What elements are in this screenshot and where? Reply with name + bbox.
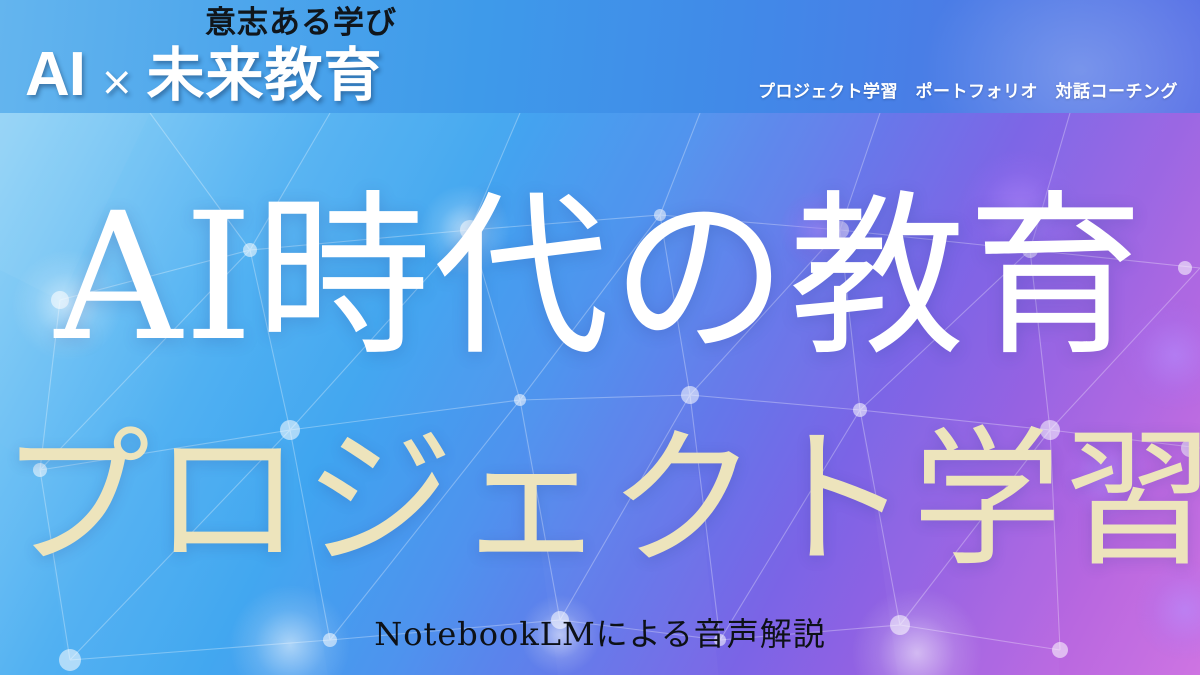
header-bar: 意志ある学び AI × 未来教育 プロジェクト学習 ポートフォリオ 対話コーチン… <box>0 0 1200 113</box>
header-kicker-text: 意志ある学び <box>205 8 397 39</box>
slide-subtitle: プロジェクト学習 <box>0 425 1200 575</box>
brand-logo-japanese: 未来教育 <box>147 46 383 104</box>
slide-title: AI時代の教育 <box>0 190 1200 366</box>
header-tagline: プロジェクト学習 ポートフォリオ 対話コーチング <box>758 84 1178 101</box>
brand-logo-cross-icon: × <box>100 62 134 102</box>
brand-logo: AI × 未来教育 <box>25 44 383 106</box>
slide-caption: NotebookLMによる音声解説 <box>0 618 1200 650</box>
slide-root: 意志ある学び AI × 未来教育 プロジェクト学習 ポートフォリオ 対話コーチン… <box>0 0 1200 675</box>
brand-logo-ai: AI <box>25 44 85 106</box>
